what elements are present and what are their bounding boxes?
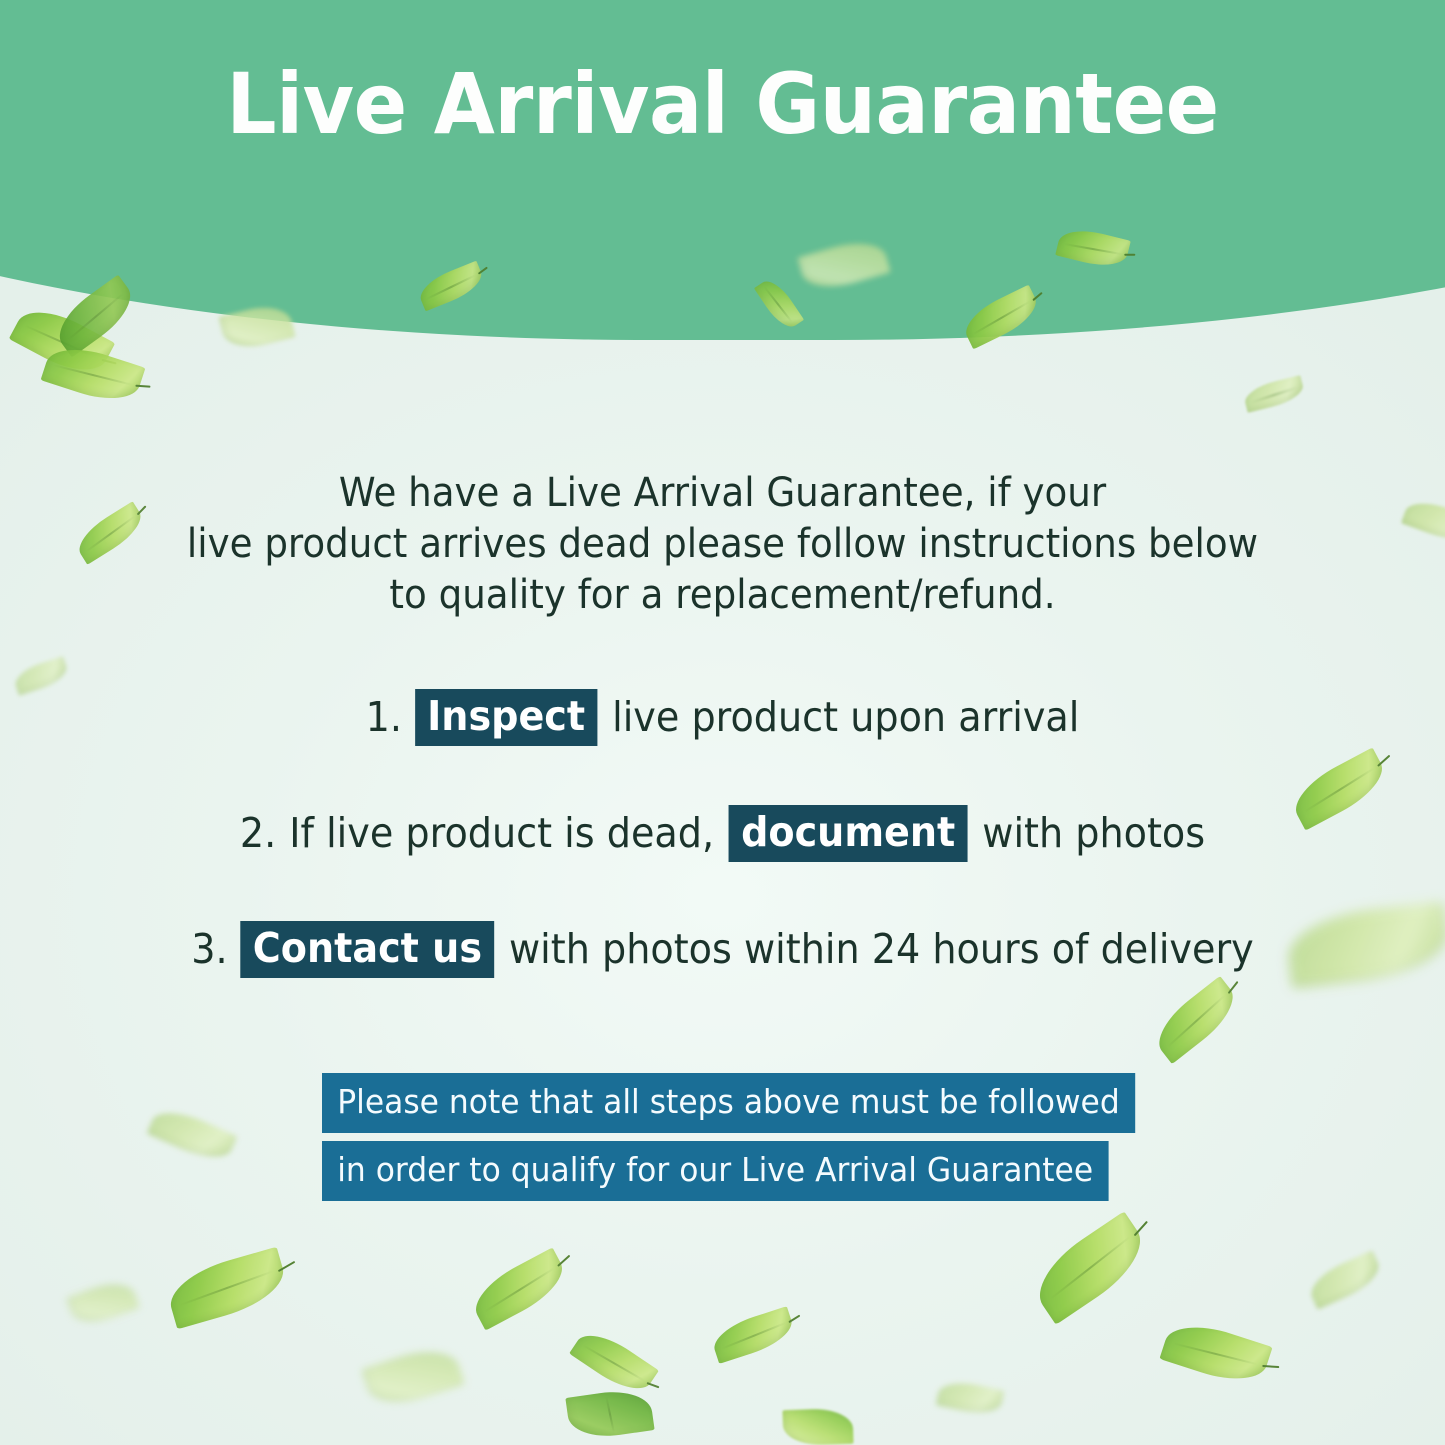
leaf-icon <box>163 1247 291 1330</box>
header-green-band <box>0 0 1445 340</box>
step-text: with photos <box>982 802 1205 864</box>
leaf-icon <box>709 1306 797 1364</box>
note-bar-line-2: in order to qualify for our Live Arrival… <box>322 1141 1108 1201</box>
step-lead-text: If live product is dead, <box>289 802 714 864</box>
page-title: Live Arrival Guarantee <box>43 62 1401 146</box>
step-number: 2. <box>240 802 276 864</box>
leaf-icon <box>1305 1250 1386 1309</box>
intro-line-3: to quality for a replacement/refund. <box>51 570 1395 621</box>
leaf-icon <box>66 1276 140 1331</box>
step-text: with photos within 24 hours of delivery <box>509 918 1254 980</box>
leaf-icon <box>569 1324 659 1401</box>
step-text: live product upon arrival <box>612 686 1079 748</box>
leaf-icon <box>1147 976 1244 1064</box>
leaf-icon <box>9 298 115 384</box>
leaf-icon <box>1025 1211 1156 1325</box>
step-highlight-inspect: Inspect <box>415 689 597 746</box>
leaf-icon <box>1242 375 1306 413</box>
leaf-icon <box>1159 1315 1272 1391</box>
leaf-icon <box>936 1378 1004 1419</box>
step-item-1: 1. Inspect live product upon arrival <box>0 686 1445 748</box>
step-highlight-document: document <box>729 805 967 862</box>
leaf-icon <box>147 1102 238 1167</box>
intro-line-1: We have a Live Arrival Guarantee, if you… <box>51 468 1395 519</box>
step-highlight-contact-us: Contact us <box>241 921 494 978</box>
note-bar-line-1: Please note that all steps above must be… <box>322 1073 1135 1133</box>
intro-paragraph: We have a Live Arrival Guarantee, if you… <box>51 468 1395 621</box>
intro-line-2: live product arrives dead please follow … <box>51 519 1395 570</box>
step-item-3: 3. Contact us with photos within 24 hour… <box>0 918 1445 980</box>
leaf-icon <box>361 1341 465 1414</box>
steps-list: 1. Inspect live product upon arrival 2. … <box>0 686 1445 980</box>
live-arrival-guarantee-poster: Live Arrival Guarantee <box>0 0 1445 1445</box>
leaf-icon <box>41 338 146 410</box>
leaf-icon <box>466 1247 572 1330</box>
step-number: 3. <box>191 918 227 980</box>
leaf-icon <box>782 1408 853 1445</box>
step-item-2: 2. If live product is dead, document wit… <box>0 802 1445 864</box>
step-number: 1. <box>366 686 402 748</box>
leaf-icon <box>565 1386 654 1441</box>
leaf-icon <box>1401 495 1445 547</box>
